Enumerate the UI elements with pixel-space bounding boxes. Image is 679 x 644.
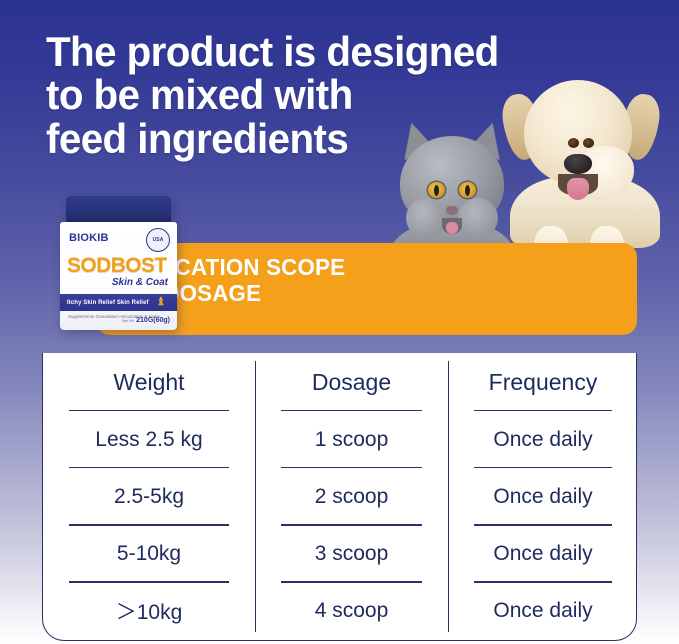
table-row: Less 2.5 kg 1 scoop Once daily xyxy=(43,411,638,468)
dosage-table: Weight Dosage Frequency Less 2.5 kg 1 sc… xyxy=(43,353,638,640)
product-jar: BIOKIB USA SODBOST Skin & Coat Itchy Ski… xyxy=(60,196,177,330)
headline-line-1: The product is designed xyxy=(46,30,584,73)
cell-frequency: Once daily xyxy=(448,526,638,583)
net-weight-value: 210G(60g) xyxy=(136,317,170,324)
cell-weight: Less 2.5 kg xyxy=(43,411,255,468)
product-subtitle: Skin & Coat xyxy=(112,277,168,288)
table-header-row: Weight Dosage Frequency xyxy=(43,353,638,411)
table-row: 5-10kg 3 scoop Once daily xyxy=(43,526,638,583)
dog-tongue-icon xyxy=(567,178,589,200)
cell-dosage: 2 scoop xyxy=(255,468,448,525)
paw-mark-icon: ♝ xyxy=(156,297,169,308)
product-net-weight: Net Wt 210G(60g) xyxy=(122,317,170,324)
infographic-page: The product is designed to be mixed with… xyxy=(0,0,679,644)
cat-cheek-left-icon xyxy=(406,198,446,238)
product-name: SODBOST xyxy=(67,254,167,278)
cell-dosage: 3 scoop xyxy=(255,526,448,583)
column-header-frequency: Frequency xyxy=(448,353,638,411)
dosage-table-card: Weight Dosage Frequency Less 2.5 kg 1 sc… xyxy=(42,353,637,641)
cat-tongue-icon xyxy=(446,222,458,234)
cell-weight: 5-10kg xyxy=(43,526,255,583)
product-claim-strip: Itchy Skin Relief Skin Relief ♝ xyxy=(60,294,177,311)
usa-badge-icon: USA xyxy=(146,228,170,252)
jar-lid xyxy=(66,196,171,224)
cat-pupil-right-icon xyxy=(465,185,470,196)
cell-frequency: Once daily xyxy=(448,583,638,640)
cell-frequency: Once daily xyxy=(448,468,638,525)
cell-frequency: Once daily xyxy=(448,411,638,468)
headline-line-3: feed ingredients xyxy=(46,117,584,160)
net-weight-label: Net Wt xyxy=(122,318,134,323)
table-row: ＞10kg 4 scoop Once daily xyxy=(43,583,638,640)
product-claim-text: Itchy Skin Relief Skin Relief xyxy=(67,300,149,306)
page-title: The product is designed to be mixed with… xyxy=(46,30,584,160)
column-header-weight: Weight xyxy=(43,353,255,411)
jar-label: BIOKIB USA SODBOST Skin & Coat Itchy Ski… xyxy=(60,222,177,330)
cat-eye-right-icon xyxy=(459,182,476,198)
cell-dosage: 1 scoop xyxy=(255,411,448,468)
table-row: 2.5-5kg 2 scoop Once daily xyxy=(43,468,638,525)
usa-badge-label: USA xyxy=(153,237,164,243)
cell-weight: ＞10kg xyxy=(43,583,255,640)
cell-weight: 2.5-5kg xyxy=(43,468,255,525)
product-brand: BIOKIB xyxy=(69,232,109,244)
cat-eye-left-icon xyxy=(428,182,445,198)
cat-cheek-right-icon xyxy=(458,198,498,238)
cat-pupil-left-icon xyxy=(434,185,439,196)
headline-line-2: to be mixed with xyxy=(46,73,584,116)
cell-dosage: 4 scoop xyxy=(255,583,448,640)
column-header-dosage: Dosage xyxy=(255,353,448,411)
cat-nose-icon xyxy=(446,206,458,215)
